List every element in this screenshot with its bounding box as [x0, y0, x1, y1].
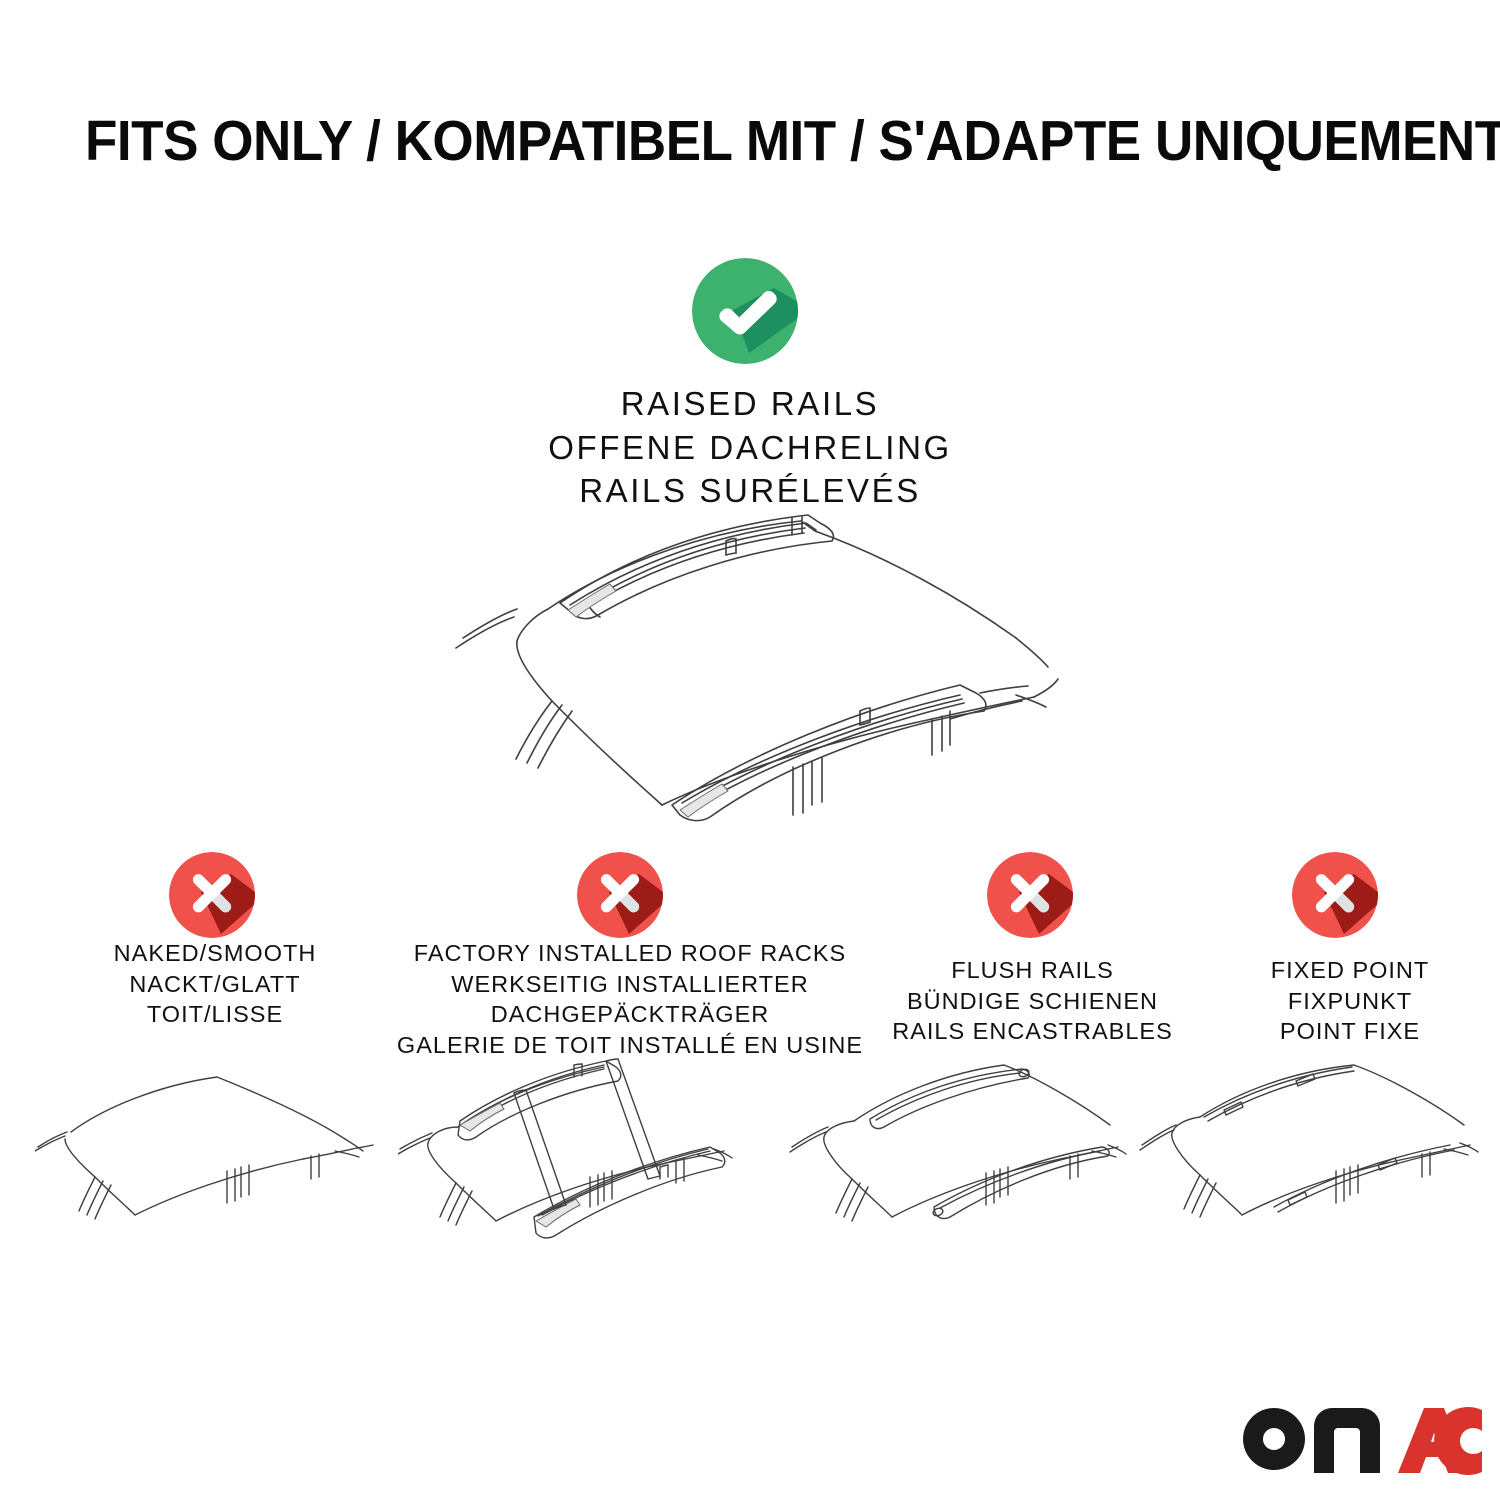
compatible-label: RAISED RAILS OFFENE DACHRELING RAILS SUR…: [420, 382, 1080, 513]
incompatible-label-flush-rails: FLUSH RAILS BÜNDIGE SCHIENEN RAILS ENCAS…: [860, 955, 1205, 1047]
page-title: FITS ONLY / KOMPATIBEL MIT / S'ADAPTE UN…: [85, 108, 1500, 174]
car-roof-naked-smooth-illustration: [35, 1055, 385, 1275]
x-circle-icon: [169, 852, 255, 938]
car-roof-factory-racks-illustration: [398, 1055, 748, 1275]
incompatible-label-factory-roof-racks: FACTORY INSTALLED ROOF RACKS WERKSEITIG …: [395, 938, 865, 1060]
incompatible-label-fixed-point: FIXED POINT FIXPUNKT POINT FIXE: [1200, 955, 1500, 1047]
x-circle-icon: [1292, 852, 1378, 938]
check-circle-icon: [692, 258, 798, 364]
x-circle-icon: [987, 852, 1073, 938]
car-roof-flush-rails-illustration: [788, 1055, 1138, 1275]
fitment-infographic: FITS ONLY / KOMPATIBEL MIT / S'ADAPTE UN…: [0, 0, 1500, 1500]
omac-logo: [1238, 1404, 1482, 1483]
incompatible-label-naked-smooth: NAKED/SMOOTH NACKT/GLATT TOIT/LISSE: [30, 938, 400, 1030]
car-roof-fixed-point-illustration: [1138, 1055, 1488, 1275]
car-roof-raised-rails-illustration: [420, 505, 1080, 835]
x-circle-icon: [577, 852, 663, 938]
